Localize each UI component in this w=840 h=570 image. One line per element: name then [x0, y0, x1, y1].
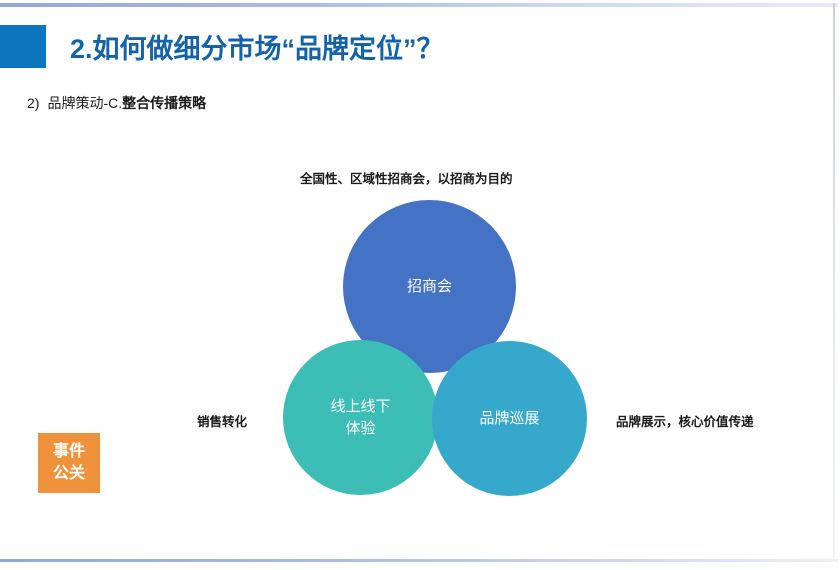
- note-left: 销售转化: [197, 411, 247, 430]
- venn-diagram: 全国性、区域性招商会，以招商为目的 招商会 线上线下 体验 品牌巡展 销售转化 …: [0, 0, 840, 570]
- circle-online-offline-experience[interactable]: 线上线下 体验: [283, 340, 438, 495]
- event-pr-callout: 事件 公关: [38, 433, 100, 493]
- callout-line1: 事件: [53, 441, 85, 463]
- callout-line2: 公关: [53, 463, 85, 485]
- slide-canvas: 2.如何做细分市场“品牌定位”？ 2)品牌策动-C.整合传播策略 全国性、区域性…: [0, 0, 840, 570]
- circle-left-label: 线上线下 体验: [330, 396, 390, 440]
- circle-brand-roadshow[interactable]: 品牌巡展: [432, 341, 587, 496]
- note-top: 全国性、区域性招商会，以招商为目的: [300, 168, 513, 187]
- circle-left-label-line1: 线上线下: [330, 396, 390, 418]
- note-right: 品牌展示，核心价值传递: [616, 411, 754, 430]
- circle-right-label: 品牌巡展: [479, 408, 539, 430]
- circle-top-label: 招商会: [407, 276, 452, 298]
- circle-left-label-line2: 体验: [330, 418, 390, 440]
